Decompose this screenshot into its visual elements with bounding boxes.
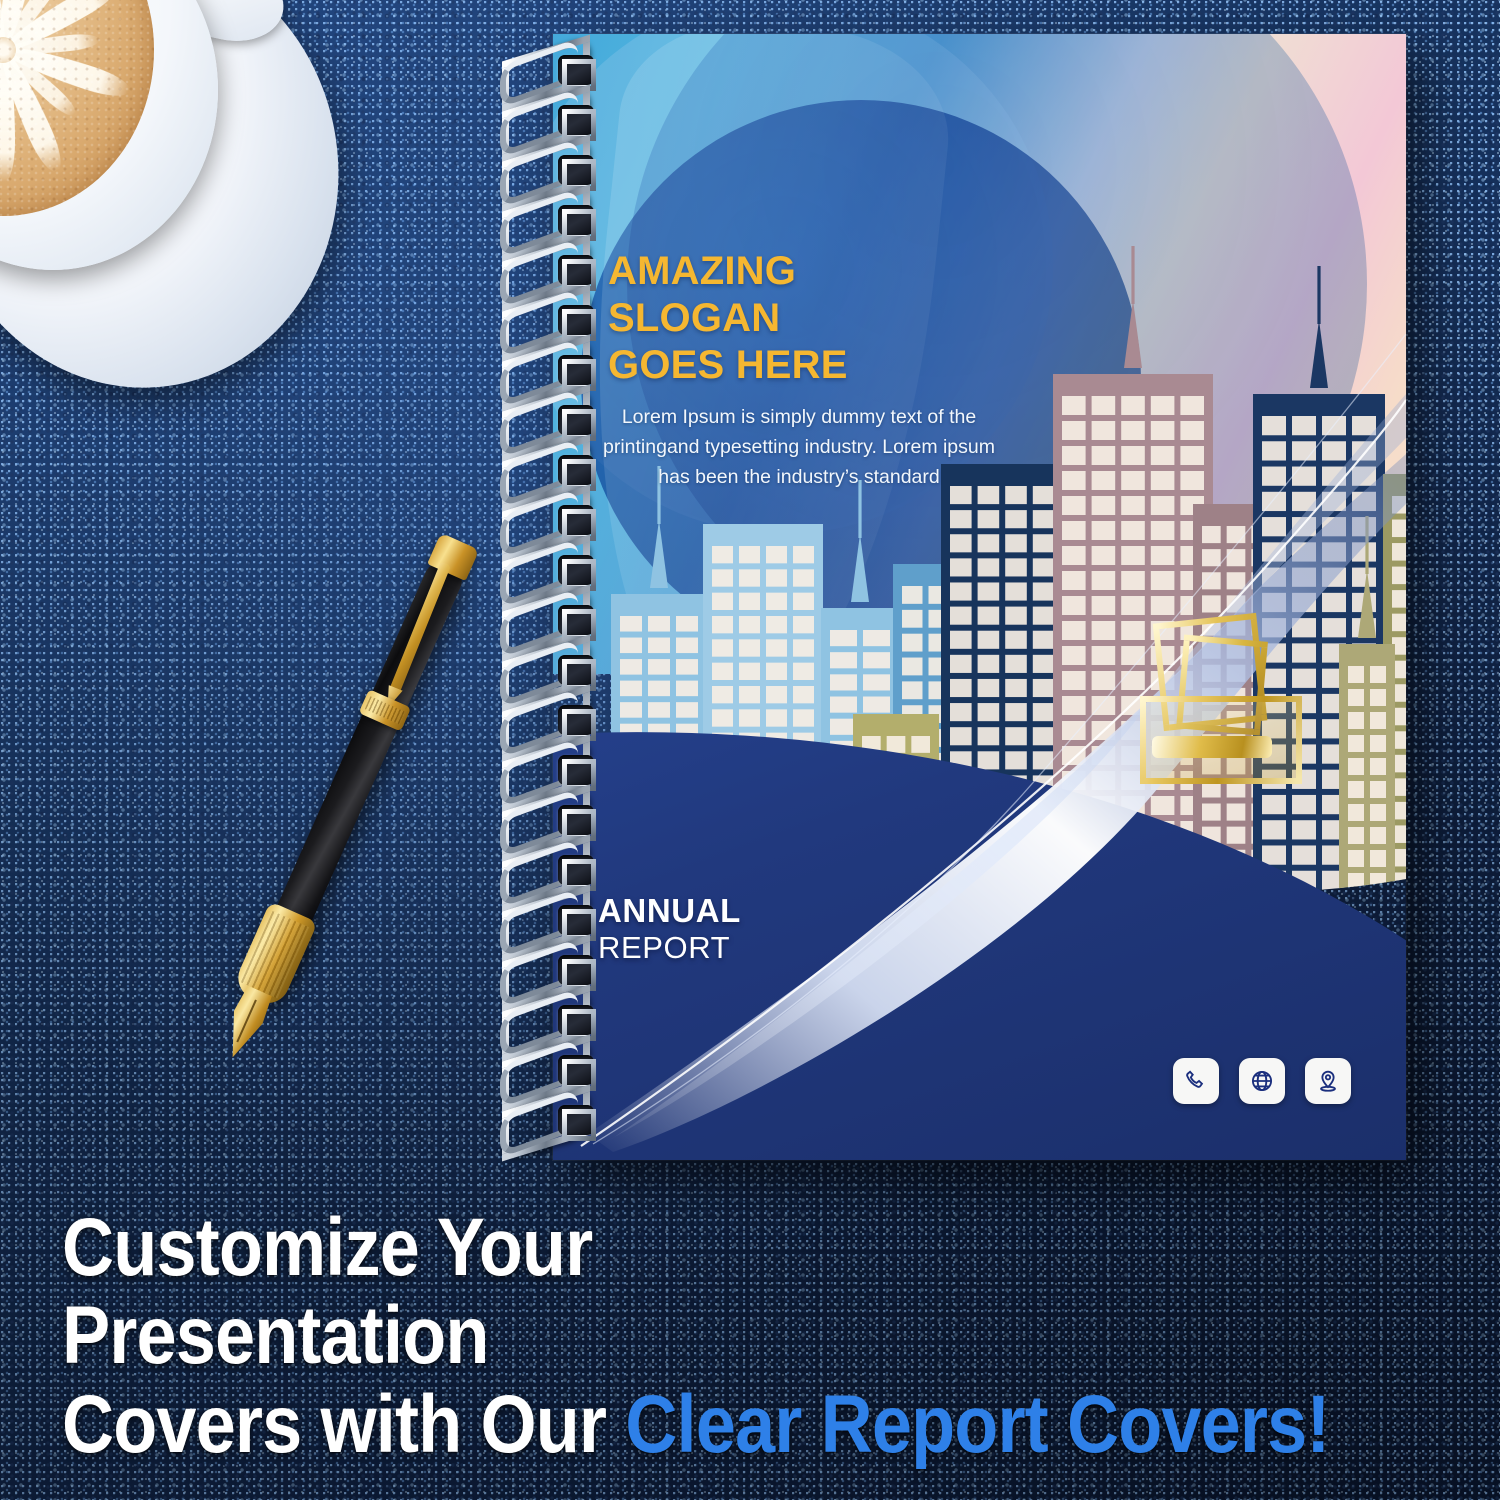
building-window [1062, 521, 1086, 540]
building-window [712, 709, 733, 726]
spiral-coil [498, 1046, 598, 1096]
cappuccino-cup [0, 0, 368, 418]
building-window [1033, 510, 1055, 528]
building-window [1092, 621, 1116, 640]
marketing-headline: Customize Your Presentation Covers with … [62, 1208, 1462, 1473]
building-window [1322, 593, 1346, 612]
building-window [1005, 727, 1027, 745]
building-window [1121, 446, 1145, 465]
building-window [1292, 542, 1316, 561]
building-window [1370, 712, 1386, 729]
building-window [1151, 546, 1175, 565]
building-window [793, 663, 814, 680]
building-window [1062, 396, 1086, 415]
building-window [648, 638, 670, 654]
building-window [1292, 517, 1316, 536]
building-window [1348, 804, 1364, 821]
latte-art [0, 0, 154, 216]
building-window [766, 593, 787, 610]
building-window [1033, 727, 1055, 745]
building-window [739, 569, 760, 586]
building-window [793, 639, 814, 656]
building-window [712, 546, 733, 563]
building-window [712, 686, 733, 703]
building-window [1348, 827, 1364, 844]
building-window [1352, 467, 1376, 486]
building-window [766, 663, 787, 680]
building-window [1322, 467, 1346, 486]
building-window [978, 679, 1000, 697]
building-window [676, 616, 698, 632]
building-window [1322, 618, 1346, 637]
building-window [1151, 471, 1175, 490]
building-window [1227, 572, 1246, 589]
building-window [1005, 607, 1027, 625]
building-window [1392, 496, 1406, 514]
building-window [950, 607, 972, 625]
building-window [1121, 396, 1145, 415]
building-window [1370, 735, 1386, 752]
building-window [676, 681, 698, 697]
building-window [1348, 689, 1364, 706]
building-window [1262, 492, 1286, 511]
building-window [1262, 467, 1286, 486]
building-window [1062, 771, 1086, 790]
building-window [902, 610, 923, 628]
building-window [863, 630, 890, 646]
building-window [793, 569, 814, 586]
building-window [863, 674, 890, 690]
building-window [1392, 520, 1406, 538]
latte-art-center [0, 37, 16, 63]
spiral-binding [498, 46, 602, 1146]
headline-line-3-accent: Clear Report Covers! [625, 1379, 1329, 1470]
building-window [1262, 517, 1286, 536]
building-window [1262, 441, 1286, 460]
building-window [978, 582, 1000, 600]
building-window [1092, 696, 1116, 715]
building-window [1092, 396, 1116, 415]
building-window [1348, 712, 1364, 729]
clip-highlight [1152, 736, 1272, 758]
building-window [1062, 746, 1086, 765]
building-window [1392, 543, 1406, 561]
building-window [1121, 571, 1145, 590]
latte-art-petal [0, 39, 132, 103]
building-window [1348, 873, 1364, 890]
building-window [1005, 631, 1027, 649]
building-window [1292, 492, 1316, 511]
building-window [1392, 590, 1406, 608]
building-window [766, 639, 787, 656]
building-window [1322, 416, 1346, 435]
building-window [950, 534, 972, 552]
building-window [1005, 703, 1027, 721]
spiral-coil [498, 796, 598, 846]
building-window [1292, 845, 1316, 864]
building-window [902, 681, 923, 699]
spiral-coil [498, 396, 598, 446]
building-window [1227, 526, 1246, 543]
building-window [1292, 441, 1316, 460]
slogan-line-1: AMAZING [608, 248, 1028, 295]
latte-art-petal [0, 0, 66, 55]
building-window [793, 616, 814, 633]
spiral-coil [498, 496, 598, 546]
building-window [1151, 521, 1175, 540]
building-window [1033, 534, 1055, 552]
building-window [1062, 696, 1086, 715]
building-window [978, 655, 1000, 673]
building-window [1062, 721, 1086, 740]
building-window [793, 709, 814, 726]
building-window [1227, 549, 1246, 566]
building-window [1092, 671, 1116, 690]
building-window [887, 736, 906, 753]
building-window [620, 638, 642, 654]
spiral-coil [498, 1096, 598, 1146]
building-window [911, 736, 930, 753]
building-window [793, 593, 814, 610]
building-window [950, 631, 972, 649]
building-window [1202, 804, 1221, 821]
building-window [1092, 421, 1116, 440]
building-window [676, 659, 698, 675]
building-window [1370, 689, 1386, 706]
spiral-coil [498, 696, 598, 746]
building-window [1370, 850, 1386, 867]
building-window [978, 558, 1000, 576]
building-window [1005, 655, 1027, 673]
building-window [1262, 820, 1286, 839]
latte-art-petal [2, 32, 99, 58]
building-window [1092, 721, 1116, 740]
building-window [1121, 421, 1145, 440]
building-window [766, 569, 787, 586]
spiral-coil [498, 146, 598, 196]
building-window [1062, 621, 1086, 640]
building-window [1092, 746, 1116, 765]
building-window [712, 616, 733, 633]
building-window [1121, 546, 1145, 565]
spiral-coil [498, 846, 598, 896]
building-window [1348, 735, 1364, 752]
building-window [1352, 416, 1376, 435]
building-window [950, 703, 972, 721]
spiral-coil [498, 896, 598, 946]
headline-line-1: Customize Your [62, 1208, 1294, 1288]
spiral-coil [498, 646, 598, 696]
building-window [1348, 781, 1364, 798]
building-window [1151, 396, 1175, 415]
building-window [793, 686, 814, 703]
building-window [978, 607, 1000, 625]
building-window [1370, 781, 1386, 798]
building-window [1180, 471, 1204, 490]
building-window [1062, 571, 1086, 590]
building-window [1227, 827, 1246, 844]
spiral-coil [498, 46, 598, 96]
latte-art-petal [0, 41, 11, 147]
headline-line-3-plain: Covers with Our [62, 1379, 625, 1470]
spiral-coil [498, 446, 598, 496]
latte-art-petal [0, 0, 7, 57]
building-window [1370, 827, 1386, 844]
product-photo-scene: AMAZING SLOGAN GOES HERE Lorem Ipsum is … [0, 0, 1500, 1500]
latte-art-petal [0, 44, 80, 120]
building-window [1092, 771, 1116, 790]
building-window [766, 709, 787, 726]
building-window [712, 663, 733, 680]
latte-art-petal [0, 42, 5, 87]
building-window [1322, 542, 1346, 561]
building-window [1262, 568, 1286, 587]
building-window [902, 586, 923, 604]
building-window [739, 616, 760, 633]
building-window [978, 727, 1000, 745]
building-window [1092, 571, 1116, 590]
building-window [1033, 655, 1055, 673]
building-window [902, 634, 923, 652]
building-window [766, 546, 787, 563]
building-window [830, 652, 857, 668]
latte-art-petal [0, 50, 15, 182]
building-window [1092, 521, 1116, 540]
building-window [1370, 666, 1386, 683]
spiral-coil [498, 346, 598, 396]
cover-title: ANNUAL REPORT [598, 894, 741, 966]
building-window [648, 616, 670, 632]
cover-title-line-2: REPORT [598, 931, 741, 966]
building-window [1062, 671, 1086, 690]
annual-report-notebook[interactable]: AMAZING SLOGAN GOES HERE Lorem Ipsum is … [553, 34, 1406, 1160]
building-window [1092, 546, 1116, 565]
contact-icon-row [1173, 1058, 1351, 1104]
building-window [1202, 526, 1221, 543]
building-window [648, 659, 670, 675]
building-window [739, 663, 760, 680]
building-window [1062, 646, 1086, 665]
building-window [1370, 804, 1386, 821]
building-window [793, 546, 814, 563]
building-window [1370, 873, 1386, 890]
spiral-coil [498, 996, 598, 1046]
building-window [1322, 492, 1346, 511]
building-window [1151, 571, 1175, 590]
building-window [1092, 446, 1116, 465]
building-window [1292, 467, 1316, 486]
latte-art-petal [0, 47, 10, 141]
building-window [1292, 416, 1316, 435]
building-window [950, 558, 972, 576]
building-window [1292, 820, 1316, 839]
building-window [1352, 441, 1376, 460]
building-window [1352, 568, 1376, 587]
building-window [1062, 596, 1086, 615]
building-window [1033, 751, 1055, 769]
building-window [620, 659, 642, 675]
building-window [1370, 758, 1386, 775]
building-window [978, 631, 1000, 649]
fountain-pen [250, 505, 460, 1050]
building-window [978, 751, 1000, 769]
building-window [1227, 804, 1246, 821]
building-window [830, 674, 857, 690]
building-window [712, 639, 733, 656]
building-window [712, 593, 733, 610]
building-window [1180, 446, 1204, 465]
building-window [950, 510, 972, 528]
building-window [1348, 850, 1364, 867]
building-window [739, 546, 760, 563]
building-window [739, 709, 760, 726]
latte-art-petal [0, 24, 4, 62]
spiral-coil [498, 596, 598, 646]
building-window [1005, 486, 1027, 504]
building-window [1033, 486, 1055, 504]
building-window [676, 638, 698, 654]
latte-art-petal [0, 0, 13, 57]
building-window [830, 697, 857, 713]
headline-line-2: Presentation [62, 1296, 1294, 1376]
building-window [712, 569, 733, 586]
building-window [1033, 631, 1055, 649]
building-window [1151, 421, 1175, 440]
building-window [1180, 421, 1204, 440]
binder-clip [1128, 604, 1308, 804]
slogan-line-2: SLOGAN [608, 295, 1028, 342]
building-window [978, 703, 1000, 721]
building-window [1121, 521, 1145, 540]
building-window [1202, 549, 1221, 566]
latte-art-petal [0, 45, 68, 175]
building-window [1033, 558, 1055, 576]
building-window [1092, 596, 1116, 615]
phone-icon[interactable] [1173, 1058, 1219, 1104]
building-window [1322, 517, 1346, 536]
building-window [1151, 496, 1175, 515]
building-window [1062, 421, 1086, 440]
spiral-coil [498, 196, 598, 246]
building-window [1262, 542, 1286, 561]
building-window [1121, 471, 1145, 490]
building-window [902, 658, 923, 676]
spiral-coil [498, 296, 598, 346]
building-window [1005, 558, 1027, 576]
building-window [1348, 666, 1364, 683]
latte-art-petal [0, 0, 11, 52]
latte-art-petal [0, 0, 123, 60]
building-window [1062, 446, 1086, 465]
building-window [1322, 441, 1346, 460]
building-window [1348, 758, 1364, 775]
globe-icon[interactable] [1239, 1058, 1285, 1104]
building-window [978, 534, 1000, 552]
building-window [620, 681, 642, 697]
building-window [739, 593, 760, 610]
building-window [1005, 510, 1027, 528]
building-window [1180, 396, 1204, 415]
building-window [739, 639, 760, 656]
building-window [1092, 496, 1116, 515]
headline-line-3: Covers with Our Clear Report Covers! [62, 1385, 1294, 1465]
building-window [1062, 471, 1086, 490]
building-window [1262, 416, 1286, 435]
building-window [1092, 471, 1116, 490]
building-window [978, 510, 1000, 528]
spiral-coil [498, 746, 598, 796]
building-window [950, 582, 972, 600]
building-window [1005, 751, 1027, 769]
building-window [950, 727, 972, 745]
building-window [1352, 517, 1376, 536]
building-window [1005, 679, 1027, 697]
cover-slogan: AMAZING SLOGAN GOES HERE [608, 248, 1028, 390]
building-window [950, 655, 972, 673]
building-window [1092, 646, 1116, 665]
building-window [863, 697, 890, 713]
building-window [766, 686, 787, 703]
building-window [1033, 582, 1055, 600]
spiral-coil [498, 546, 598, 596]
cover-body-text: Lorem Ipsum is simply dummy text of the … [599, 402, 999, 493]
building-window [1392, 567, 1406, 585]
building-window [648, 681, 670, 697]
building-window [620, 616, 642, 632]
building-window [1352, 492, 1376, 511]
building-window [739, 686, 760, 703]
building-window [620, 702, 642, 718]
building-window [950, 679, 972, 697]
building-window [830, 719, 857, 735]
building-window [766, 616, 787, 633]
building-window [676, 702, 698, 718]
location-pin-icon[interactable] [1305, 1058, 1351, 1104]
building-window [1392, 614, 1406, 632]
building-window [1202, 572, 1221, 589]
cover-title-line-1: ANNUAL [598, 894, 741, 929]
building-window [1151, 446, 1175, 465]
building-window [1005, 534, 1027, 552]
latte-art-petal [0, 0, 42, 52]
building-window [1062, 496, 1086, 515]
building-window [648, 702, 670, 718]
building-window [830, 630, 857, 646]
building-window [1033, 607, 1055, 625]
spiral-coil [498, 96, 598, 146]
building-window [863, 652, 890, 668]
spiral-coil [498, 946, 598, 996]
building-window [1062, 546, 1086, 565]
building-window [1262, 845, 1286, 864]
building-window [1352, 542, 1376, 561]
building-window [1033, 703, 1055, 721]
building-window [1033, 679, 1055, 697]
slogan-line-3: GOES HERE [608, 342, 1028, 389]
building-window [1121, 496, 1145, 515]
building-window [1005, 582, 1027, 600]
building-window [1322, 568, 1346, 587]
building-window [1292, 568, 1316, 587]
spiral-coil [498, 246, 598, 296]
